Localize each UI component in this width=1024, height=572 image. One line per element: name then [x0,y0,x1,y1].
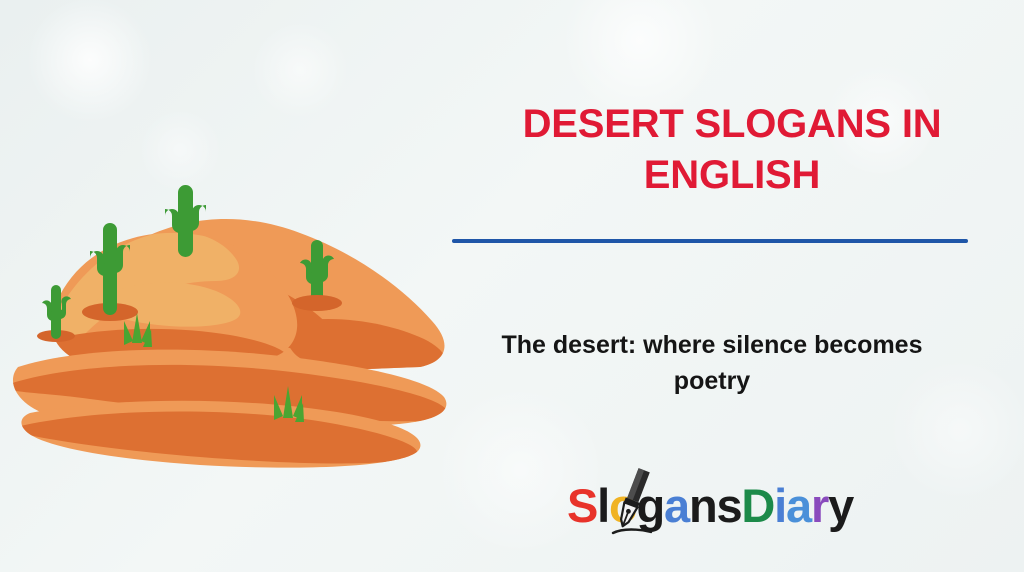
logo-letter-a2: a [786,479,811,532]
desert-illustration [0,175,460,470]
logo-letter-g: g [637,479,665,532]
brand-logo[interactable]: SlogansDiary [460,478,960,546]
logo-letter-r: r [811,479,828,532]
logo-letter-s: S [567,479,597,532]
logo-letter-d: D [741,479,774,532]
logo-letter-a: a [664,479,689,532]
hero-banner: DESERT SLOGANS IN ENGLISH The desert: wh… [0,0,1024,572]
subtitle-slogan: The desert: where silence becomes poetry [462,328,962,399]
cactus-base-shadow [292,295,342,311]
logo-letter-ns: ns [689,479,741,532]
page-title: DESERT SLOGANS IN ENGLISH [440,99,1024,201]
logo-wordmark: SlogansDiary [567,478,853,534]
logo-letter-o: o [609,479,637,532]
logo-letter-y: y [828,479,853,532]
content-column: DESERT SLOGANS IN ENGLISH The desert: wh… [440,0,1024,572]
logo-letter-i: i [774,479,786,532]
title-divider [452,239,968,243]
logo-letter-l: l [597,479,609,532]
